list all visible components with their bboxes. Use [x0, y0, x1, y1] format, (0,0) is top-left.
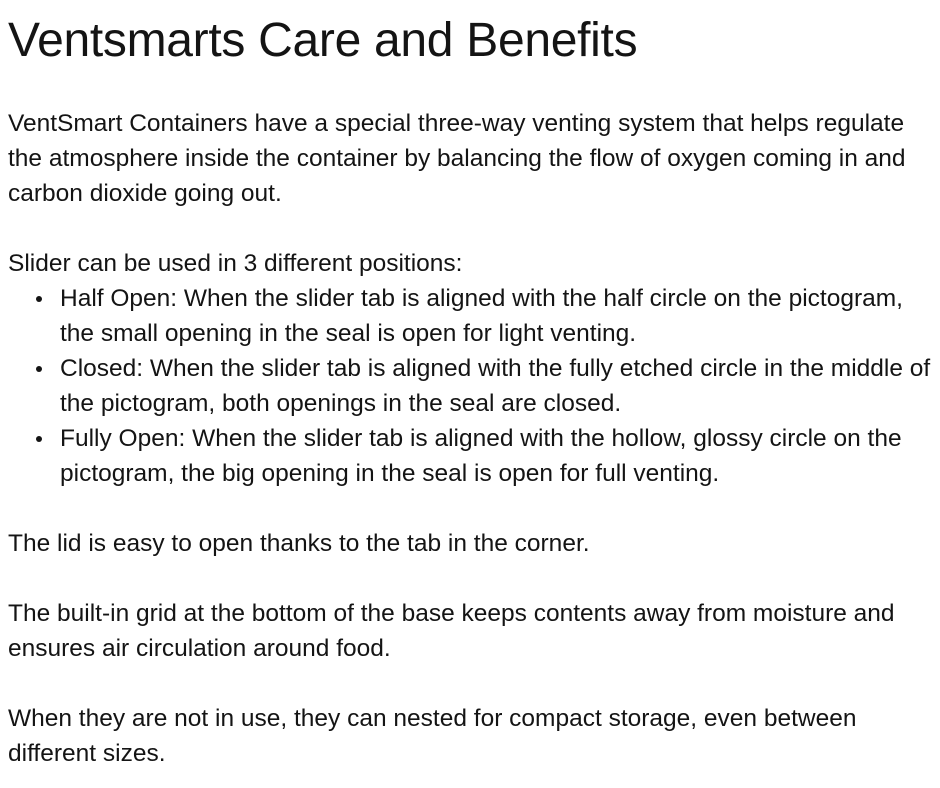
bullet-dot-icon — [36, 366, 42, 372]
page-title: Ventsmarts Care and Benefits — [8, 0, 932, 70]
document-body: Ventsmarts Care and Benefits VentSmart C… — [0, 0, 940, 788]
paragraph-spacer-4 — [8, 666, 932, 701]
lid-paragraph: The lid is easy to open thanks to the ta… — [8, 526, 920, 561]
list-item-text: Fully Open: When the slider tab is align… — [60, 425, 902, 487]
list-item-text: Half Open: When the slider tab is aligne… — [60, 285, 903, 347]
bullet-dot-icon — [36, 436, 42, 442]
list-item: Half Open: When the slider tab is aligne… — [8, 281, 932, 351]
slider-positions-list: Half Open: When the slider tab is aligne… — [8, 281, 932, 491]
paragraph-spacer-1 — [8, 211, 932, 246]
grid-paragraph: The built-in grid at the bottom of the b… — [8, 596, 920, 666]
title-spacer — [8, 70, 932, 106]
slider-intro-text: Slider can be used in 3 different positi… — [8, 246, 920, 281]
nesting-paragraph: When they are not in use, they can neste… — [8, 701, 920, 771]
bullet-dot-icon — [36, 296, 42, 302]
list-item: Fully Open: When the slider tab is align… — [8, 421, 932, 491]
list-item: Closed: When the slider tab is aligned w… — [8, 351, 932, 421]
intro-paragraph: VentSmart Containers have a special thre… — [8, 106, 920, 211]
list-item-text: Closed: When the slider tab is aligned w… — [60, 355, 930, 417]
paragraph-spacer-3 — [8, 561, 932, 596]
paragraph-spacer-2 — [8, 491, 932, 526]
